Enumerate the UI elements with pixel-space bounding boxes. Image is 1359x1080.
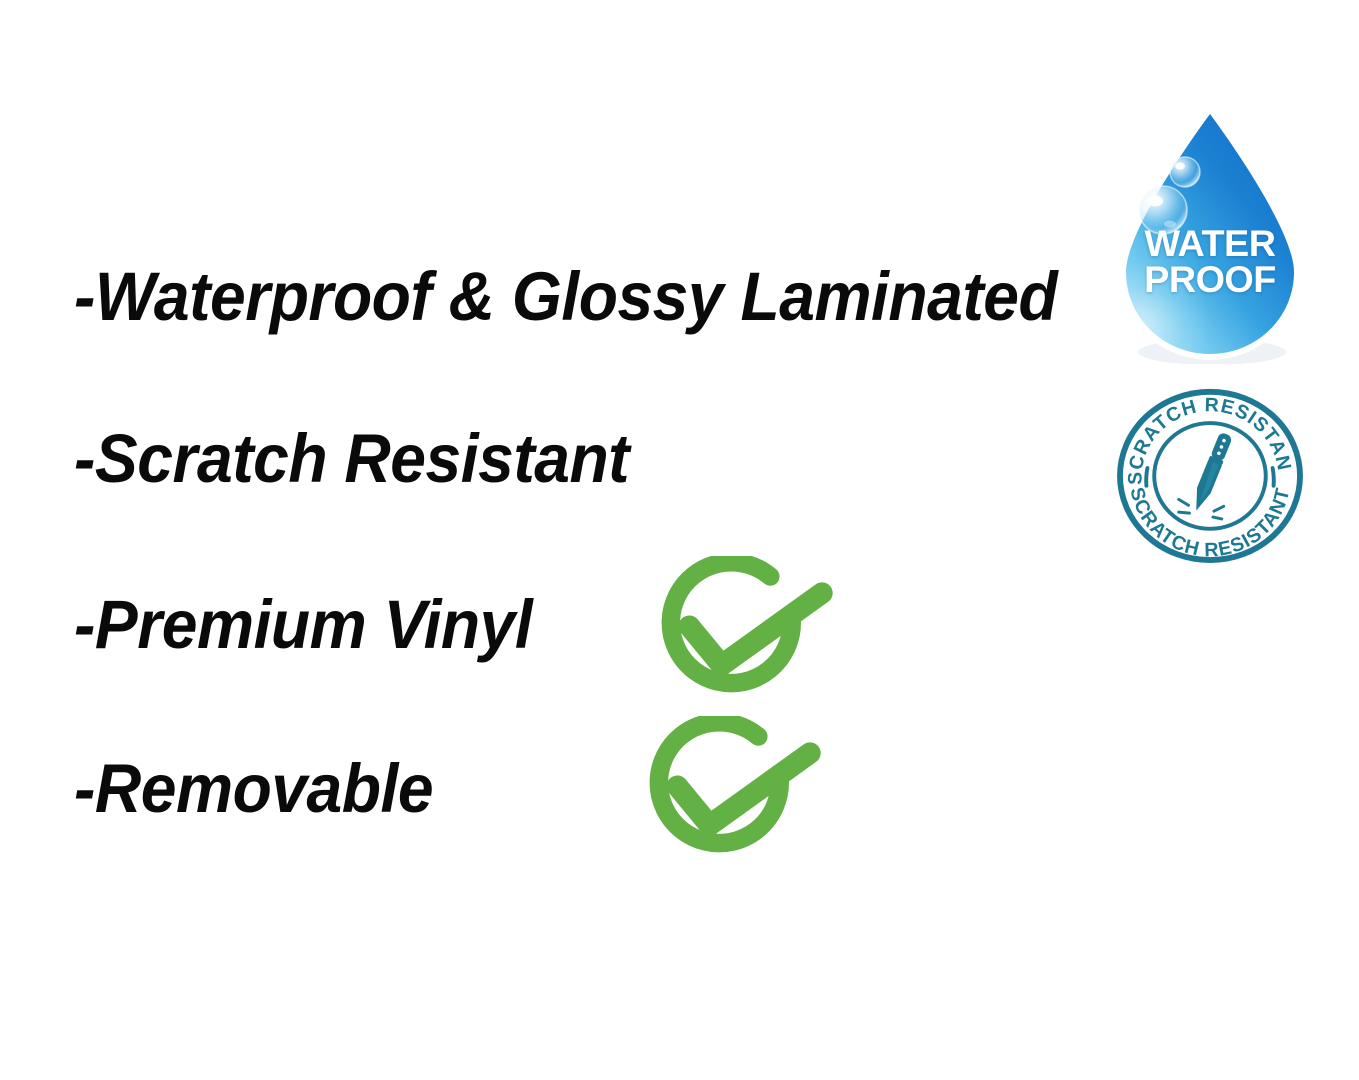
check-tick <box>677 753 810 825</box>
feature-text-premium-vinyl: -Premium Vinyl <box>74 590 532 659</box>
product-features-graphic: -Waterproof & Glossy Laminated -Scratch … <box>0 0 1359 1080</box>
feature-text-removable: -Removable <box>74 754 433 823</box>
checkmark-removable <box>633 716 829 872</box>
scratch-resistant-stamp-icon: SCRATCH RESISTANT SCRATCH RESISTANT <box>1112 382 1308 564</box>
green-check-circle-icon <box>645 556 841 712</box>
feature-text-waterproof-glossy-laminated: -Waterproof & Glossy Laminated <box>74 262 1057 331</box>
knife-icon <box>1189 431 1233 513</box>
stamp-text-top: SCRATCH RESISTANT <box>1112 382 1295 485</box>
water-droplet-icon <box>1106 106 1314 364</box>
scratch-resistant-badge: SCRATCH RESISTANT SCRATCH RESISTANT <box>1112 382 1308 564</box>
checkmark-premium-vinyl <box>645 556 841 712</box>
bubble-small-icon <box>1170 157 1200 187</box>
green-check-circle-icon <box>633 716 829 872</box>
stamp-text-bottom: SCRATCH RESISTANT <box>1125 485 1294 561</box>
feature-text-scratch-resistant: -Scratch Resistant <box>74 424 629 493</box>
waterproof-badge: WATER PROOF <box>1106 106 1314 364</box>
bubble-large-icon <box>1139 186 1187 234</box>
check-tick <box>689 593 822 665</box>
